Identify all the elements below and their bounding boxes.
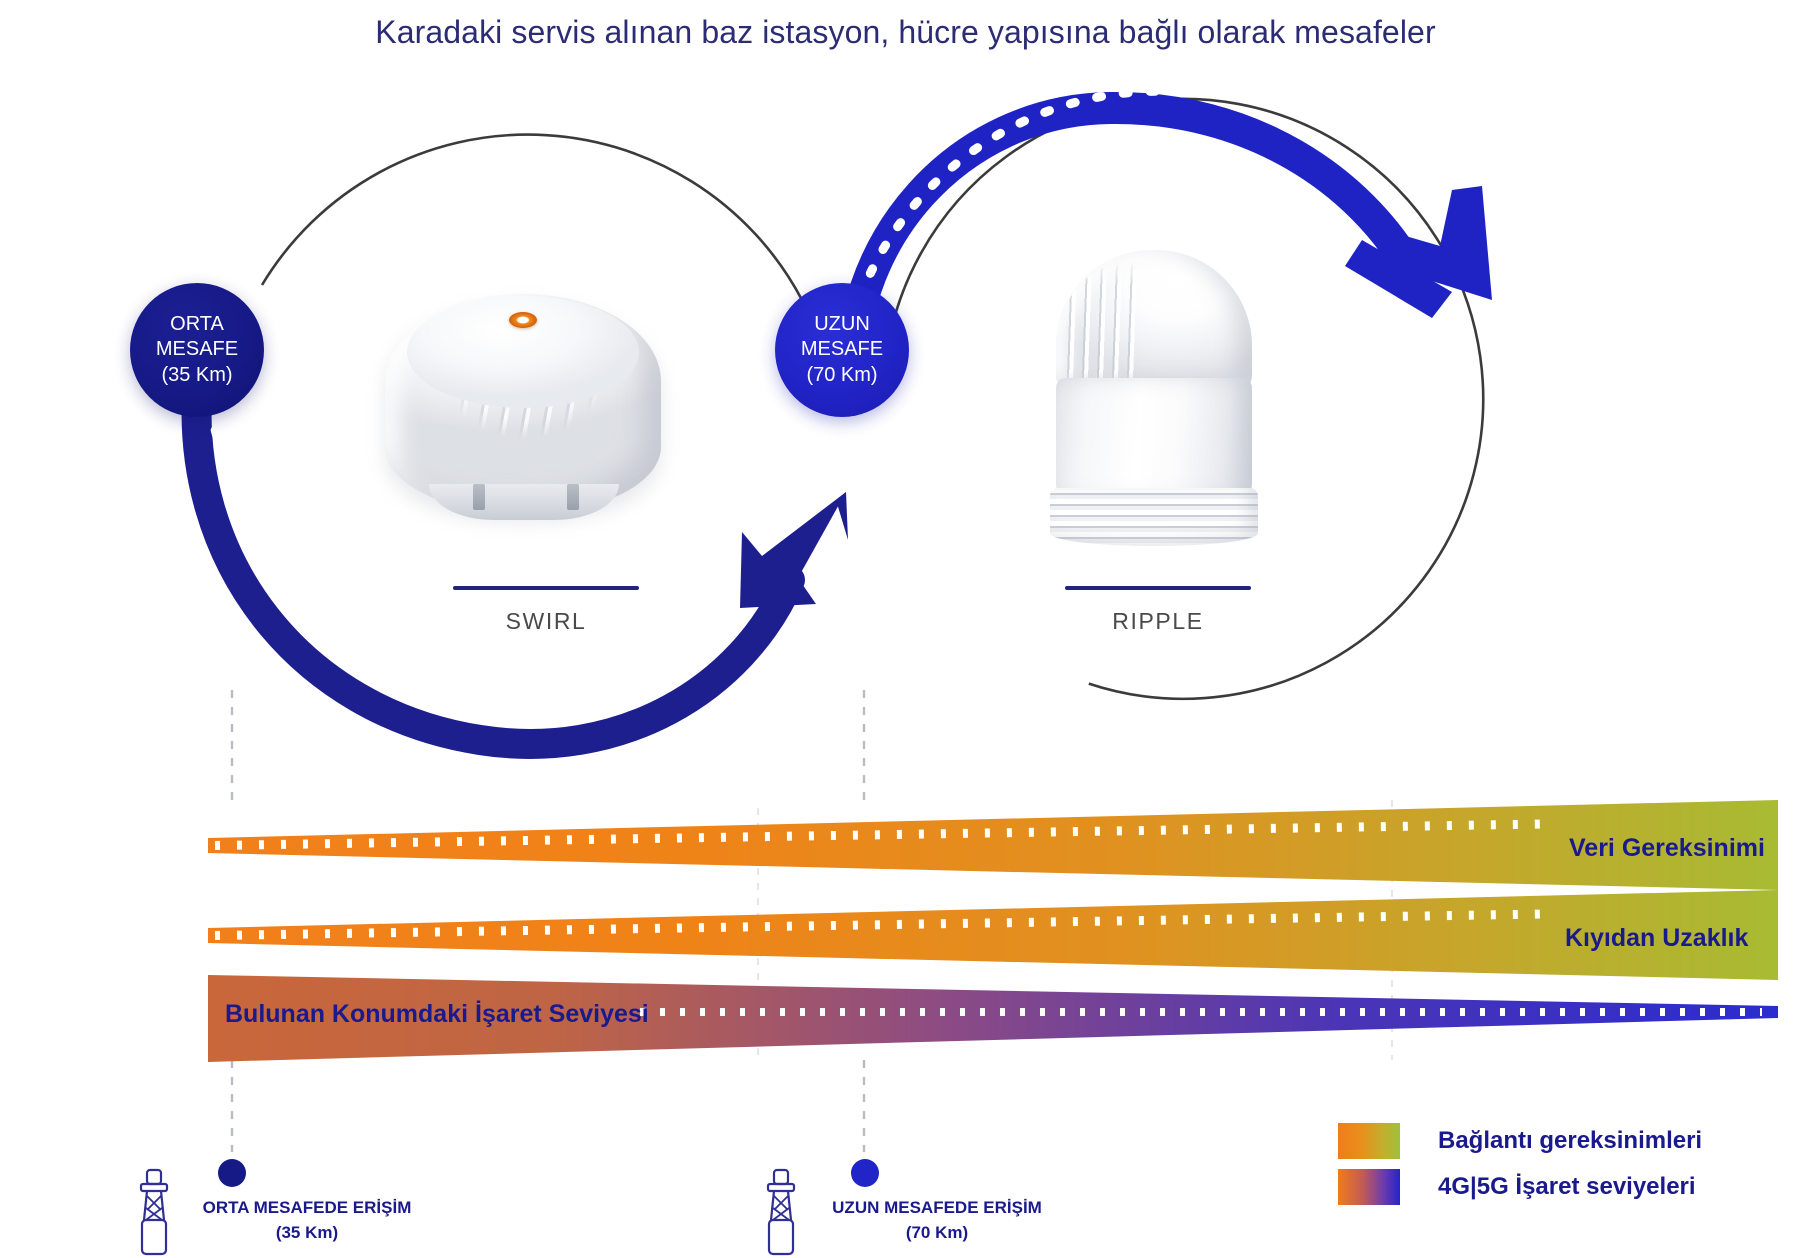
badge-orta-line2: MESAFE <box>156 337 238 363</box>
device-label-swirl: SWIRL <box>416 586 676 635</box>
badge-uzun-line2: MESAFE <box>801 337 883 363</box>
device-label-rule <box>1065 586 1251 590</box>
diagram-canvas <box>0 0 1811 1248</box>
badge-uzun-line3: (70 Km) <box>806 363 877 389</box>
marker-dot-orta <box>218 1159 246 1187</box>
marker-uzun-line2: (70 Km) <box>822 1221 1052 1246</box>
legend-swatch-connectivity <box>1338 1123 1400 1159</box>
badge-uzun-line1: UZUN <box>814 312 870 338</box>
device-image-swirl <box>377 288 669 536</box>
legend-label-signal: 4G|5G İşaret seviyeleri <box>1438 1173 1696 1201</box>
reference-circle-left <box>262 135 802 300</box>
device-name-swirl: SWIRL <box>416 608 676 635</box>
bar-label-isaret-seviyesi: Bulunan Konumdaki İşaret Seviyesi <box>225 1000 649 1029</box>
bar-label-veri-gereksinimi: Veri Gereksinimi <box>1569 834 1765 863</box>
badge-orta-mesafe[interactable]: ORTA MESAFE (35 Km) <box>130 283 264 417</box>
legend: Bağlantı gereksinimleri 4G|5G İşaret sev… <box>1338 1118 1758 1210</box>
cell-tower-icon <box>128 1168 180 1258</box>
device-label-ripple: RIPPLE <box>1028 586 1288 635</box>
bar-kiyidan-uzaklik <box>208 890 1778 980</box>
cell-tower-icon <box>755 1168 807 1258</box>
marker-text-uzun: UZUN MESAFEDE ERİŞİM (70 Km) <box>822 1196 1052 1245</box>
badge-orta-line1: ORTA <box>170 312 224 338</box>
marker-orta-line2: (35 Km) <box>192 1221 422 1246</box>
swirl-led-indicator <box>509 312 537 328</box>
bar-label-kiyidan-uzaklik: Kıyıdan Uzaklık <box>1565 924 1748 953</box>
arrowhead-right-arc <box>1338 182 1492 318</box>
marker-uzun-line1: UZUN MESAFEDE ERİŞİM <box>822 1196 1052 1221</box>
legend-label-connectivity: Bağlantı gereksinimleri <box>1438 1127 1702 1155</box>
device-image-ripple <box>1040 250 1270 550</box>
bar-veri-gereksinimi <box>208 800 1778 890</box>
legend-row-signal: 4G|5G İşaret seviyeleri <box>1338 1164 1758 1210</box>
ripple-body <box>1056 378 1252 500</box>
swirl-notch <box>567 484 579 510</box>
marker-text-orta: ORTA MESAFEDE ERİŞİM (35 Km) <box>192 1196 422 1245</box>
device-name-ripple: RIPPLE <box>1028 608 1288 635</box>
ripple-ribs <box>1062 262 1140 386</box>
badge-orta-line3: (35 Km) <box>161 363 232 389</box>
swirl-base <box>429 484 619 520</box>
ripple-fins <box>1050 488 1258 546</box>
swirl-notch <box>473 484 485 510</box>
badge-uzun-mesafe[interactable]: UZUN MESAFE (70 Km) <box>775 283 909 417</box>
legend-swatch-signal <box>1338 1169 1400 1205</box>
marker-dot-uzun <box>851 1159 879 1187</box>
legend-row-connectivity: Bağlantı gereksinimleri <box>1338 1118 1758 1164</box>
device-label-rule <box>453 586 639 590</box>
marker-orta-line1: ORTA MESAFEDE ERİŞİM <box>192 1196 422 1221</box>
